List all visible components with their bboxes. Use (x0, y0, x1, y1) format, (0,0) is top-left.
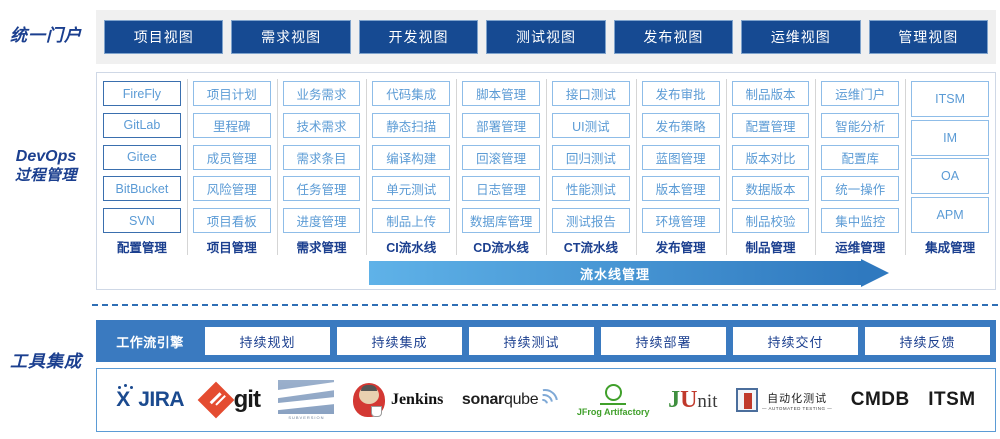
devops-cell[interactable]: 发布审批 (642, 81, 720, 106)
devops-column-title: CI流水线 (372, 233, 450, 259)
devops-cell[interactable]: 需求条目 (283, 145, 361, 170)
git-logo: git (203, 378, 260, 422)
portal-view-button-5[interactable]: 运维视图 (741, 20, 860, 54)
jenkins-butler-icon (353, 383, 385, 417)
sonarqube-logo-text: sonarqube (462, 391, 538, 409)
section-label-tools-text: 工具集成 (10, 352, 82, 371)
devops-cell[interactable]: 版本管理 (642, 176, 720, 201)
automated-testing-logo-subtext: — AUTOMATED TESTING — (762, 406, 832, 411)
devops-cell[interactable]: 项目看板 (193, 208, 271, 233)
devops-column-title: 项目管理 (193, 233, 271, 259)
devops-cell[interactable]: 集中监控 (821, 208, 899, 233)
devops-cell[interactable]: 编译构建 (372, 145, 450, 170)
devops-column-8-cells: 运维门户智能分析配置库统一操作集中监控 (821, 81, 899, 233)
devops-column-1: 项目计划里程碑成员管理风险管理项目看板项目管理 (187, 73, 277, 259)
unified-portal-bar: 项目视图需求视图开发视图测试视图发布视图运维视图管理视图 (96, 10, 996, 64)
jira-dots-icon (118, 386, 134, 392)
devops-column-title: 集成管理 (911, 233, 989, 259)
section-label-portal: 统一门户 (0, 26, 92, 46)
devops-process-panel: FireFlyGitLabGiteeBitBucketSVN配置管理项目计划里程… (96, 72, 996, 290)
portal-view-button-2[interactable]: 开发视图 (359, 20, 478, 54)
sonarqube-waves-icon (536, 389, 558, 411)
workflow-stage-button-3[interactable]: 持续部署 (601, 327, 726, 355)
tool-integration-strip: Χ JIRA git SUBVERSION Jenkins sonarqube (96, 368, 996, 432)
pipeline-arrow-head-icon (861, 259, 889, 287)
devops-capability-grid: FireFlyGitLabGiteeBitBucketSVN配置管理项目计划里程… (97, 73, 995, 259)
portal-view-button-6[interactable]: 管理视图 (869, 20, 988, 54)
devops-cell[interactable]: 接口测试 (552, 81, 630, 106)
devops-cell[interactable]: 测试报告 (552, 208, 630, 233)
devops-cell[interactable]: 回滚管理 (462, 145, 540, 170)
subversion-mark-icon: SUBVERSION (278, 380, 334, 420)
devops-cell[interactable]: Gitee (103, 145, 181, 170)
git-logo-text: git (234, 386, 260, 414)
devops-cell[interactable]: 代码集成 (372, 81, 450, 106)
workflow-stage-button-0[interactable]: 持续规划 (205, 327, 330, 355)
itsm-logo: ITSM (928, 378, 975, 422)
automated-testing-logo-text: 自动化测试 (767, 390, 827, 406)
devops-column-2: 业务需求技术需求需求条目任务管理进度管理需求管理 (277, 73, 367, 259)
devops-column-6: 发布审批发布策略蓝图管理版本管理环境管理发布管理 (636, 73, 726, 259)
sonarqube-logo: sonarqube (462, 378, 558, 422)
devops-column-title: CT流水线 (552, 233, 630, 259)
jira-mark-icon: Χ (116, 389, 136, 411)
devops-column-5-cells: 接口测试UI测试回归测试性能测试测试报告 (552, 81, 630, 233)
devops-cell[interactable]: ITSM (911, 81, 989, 117)
pipeline-arrow-label: 流水线管理 (580, 264, 650, 283)
section-label-devops-line2: 过程管理 (0, 167, 92, 185)
jira-logo-text: JIRA (138, 388, 184, 412)
jfrog-ring-icon (605, 384, 622, 401)
git-diamond-icon (197, 382, 234, 419)
devops-cell[interactable]: 成员管理 (193, 145, 271, 170)
devops-cell[interactable]: OA (911, 158, 989, 194)
jfrog-logo-text: JFrog Artifactory (577, 407, 650, 417)
devops-cell[interactable]: 回归测试 (552, 145, 630, 170)
devops-column-title: CD流水线 (462, 233, 540, 259)
devops-cell[interactable]: 里程碑 (193, 113, 271, 138)
cmdb-logo-text: CMDB (851, 389, 910, 411)
jfrog-artifactory-logo: JFrog Artifactory (577, 378, 650, 422)
jira-logo: Χ JIRA (116, 378, 184, 422)
pipeline-arrow-body: 流水线管理 (369, 261, 861, 285)
workflow-stage-button-5[interactable]: 持续反馈 (865, 327, 990, 355)
devops-column-4: 脚本管理部署管理回滚管理日志管理数据库管理CD流水线 (456, 73, 546, 259)
devops-cell[interactable]: 项目计划 (193, 81, 271, 106)
devops-cell[interactable]: 制品校验 (732, 208, 810, 233)
section-label-devops: DevOps 过程管理 (0, 148, 92, 185)
devops-cell[interactable]: 性能测试 (552, 176, 630, 201)
devops-cell[interactable]: 发布策略 (642, 113, 720, 138)
automated-testing-mark-icon (736, 388, 758, 412)
jenkins-logo-text: Jenkins (391, 391, 443, 409)
jenkins-logo: Jenkins (353, 378, 443, 422)
devops-cell[interactable]: 进度管理 (283, 208, 361, 233)
devops-cell[interactable]: APM (911, 197, 989, 233)
devops-cell[interactable]: 静态扫描 (372, 113, 450, 138)
automated-testing-logo: 自动化测试 — AUTOMATED TESTING — (736, 378, 832, 422)
devops-column-3-cells: 代码集成静态扫描编译构建单元测试制品上传 (372, 81, 450, 233)
section-divider (92, 304, 998, 306)
devops-column-title: 需求管理 (283, 233, 361, 259)
devops-cell[interactable]: 制品版本 (732, 81, 810, 106)
subversion-logo-text: SUBVERSION (278, 415, 334, 420)
devops-cell[interactable]: 技术需求 (283, 113, 361, 138)
jfrog-bar-icon (600, 403, 626, 405)
workflow-stage-button-4[interactable]: 持续交付 (733, 327, 858, 355)
devops-column-title: 发布管理 (642, 233, 720, 259)
devops-cell[interactable]: 统一操作 (821, 176, 899, 201)
portal-view-button-3[interactable]: 测试视图 (486, 20, 605, 54)
devops-cell[interactable]: IM (911, 120, 989, 156)
devops-column-1-cells: 项目计划里程碑成员管理风险管理项目看板 (193, 81, 271, 233)
workflow-stage-button-1[interactable]: 持续集成 (337, 327, 462, 355)
portal-view-button-4[interactable]: 发布视图 (614, 20, 733, 54)
workflow-stage-button-2[interactable]: 持续测试 (469, 327, 594, 355)
devops-cell[interactable]: 风险管理 (193, 176, 271, 201)
devops-cell[interactable]: SVN (103, 208, 181, 233)
devops-cell[interactable]: 智能分析 (821, 113, 899, 138)
devops-column-9: ITSMIMOAAPM集成管理 (905, 73, 995, 259)
devops-cell[interactable]: 版本对比 (732, 145, 810, 170)
devops-cell[interactable]: FireFly (103, 81, 181, 106)
devops-cell[interactable]: 蓝图管理 (642, 145, 720, 170)
devops-cell[interactable]: 配置库 (821, 145, 899, 170)
devops-column-title: 制品管理 (732, 233, 810, 259)
devops-cell[interactable]: 制品上传 (372, 208, 450, 233)
devops-cell[interactable]: 日志管理 (462, 176, 540, 201)
pipeline-management-arrow: 流水线管理 (369, 261, 889, 285)
devops-column-5: 接口测试UI测试回归测试性能测试测试报告CT流水线 (546, 73, 636, 259)
devops-column-2-cells: 业务需求技术需求需求条目任务管理进度管理 (283, 81, 361, 233)
workflow-engine-label: 工作流引擎 (102, 332, 198, 351)
devops-column-7-cells: 制品版本配置管理版本对比数据版本制品校验 (732, 81, 810, 233)
junit-logo: JUnit (668, 378, 717, 422)
devops-cell[interactable]: 任务管理 (283, 176, 361, 201)
devops-cell[interactable]: GitLab (103, 113, 181, 138)
devops-column-0-cells: FireFlyGitLabGiteeBitBucketSVN (103, 81, 181, 233)
devops-cell[interactable]: 数据版本 (732, 176, 810, 201)
devops-column-3: 代码集成静态扫描编译构建单元测试制品上传CI流水线 (366, 73, 456, 259)
itsm-logo-text: ITSM (928, 389, 975, 411)
devops-column-9-cells: ITSMIMOAAPM (911, 81, 989, 233)
workflow-engine-bar: 工作流引擎 持续规划持续集成持续测试持续部署持续交付持续反馈 (96, 320, 996, 362)
devops-column-0: FireFlyGitLabGiteeBitBucketSVN配置管理 (97, 73, 187, 259)
portal-view-button-1[interactable]: 需求视图 (231, 20, 350, 54)
devops-cell[interactable]: 脚本管理 (462, 81, 540, 106)
devops-column-7: 制品版本配置管理版本对比数据版本制品校验制品管理 (726, 73, 816, 259)
portal-view-button-0[interactable]: 项目视图 (104, 20, 223, 54)
devops-cell[interactable]: UI测试 (552, 113, 630, 138)
devops-cell[interactable]: 环境管理 (642, 208, 720, 233)
devops-cell[interactable]: 数据库管理 (462, 208, 540, 233)
cmdb-logo: CMDB (851, 378, 910, 422)
section-label-devops-line1: DevOps (0, 148, 92, 167)
junit-logo-text: JUnit (668, 387, 717, 414)
devops-cell[interactable]: 单元测试 (372, 176, 450, 201)
devops-cell[interactable]: 业务需求 (283, 81, 361, 106)
section-label-portal-text: 统一门户 (10, 26, 82, 45)
devops-cell[interactable]: 部署管理 (462, 113, 540, 138)
devops-cell[interactable]: 运维门户 (821, 81, 899, 106)
devops-column-8: 运维门户智能分析配置库统一操作集中监控运维管理 (815, 73, 905, 259)
devops-column-title: 配置管理 (103, 233, 181, 259)
devops-column-6-cells: 发布审批发布策略蓝图管理版本管理环境管理 (642, 81, 720, 233)
devops-cell[interactable]: 配置管理 (732, 113, 810, 138)
subversion-logo: SUBVERSION (278, 378, 334, 422)
section-label-tools: 工具集成 (0, 352, 92, 372)
devops-column-title: 运维管理 (821, 233, 899, 259)
devops-cell[interactable]: BitBucket (103, 176, 181, 201)
devops-column-4-cells: 脚本管理部署管理回滚管理日志管理数据库管理 (462, 81, 540, 233)
